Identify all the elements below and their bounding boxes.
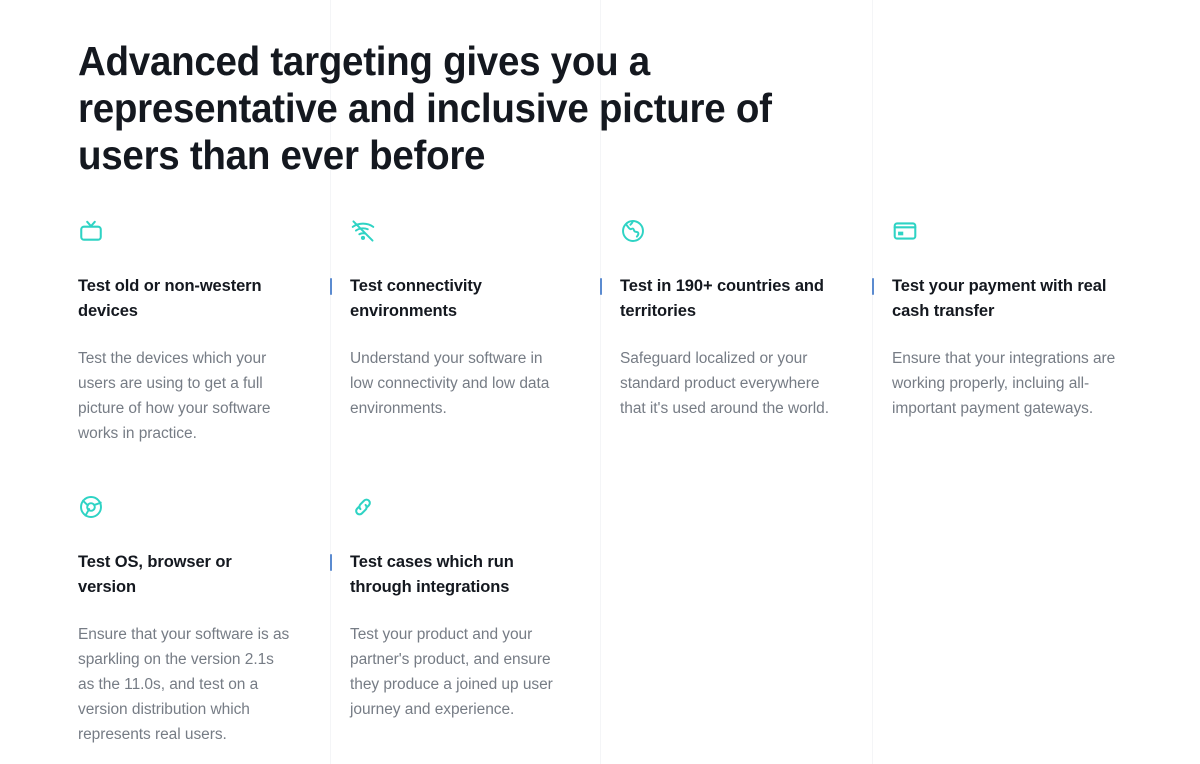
page-title: Advanced targeting gives you a represent…: [78, 38, 830, 179]
card-title: Test cases which run through integration…: [350, 550, 564, 600]
card-body-text: Understand your software in low connecti…: [350, 346, 564, 421]
card-title-text: Test your payment with real cash transfe…: [892, 277, 1106, 320]
feature-card-browser: Test OS, browser or version Ensure that …: [0, 494, 330, 747]
card-title: Test connectivity environments: [350, 274, 564, 324]
card-title-text: Test in 190+ countries and territories: [620, 277, 824, 320]
browser-chrome-icon: [78, 494, 104, 520]
feature-card-payment: Test your payment with real cash transfe…: [872, 218, 1200, 446]
card-title-text: Test cases which run through integration…: [350, 553, 514, 596]
card-title: Test OS, browser or version: [78, 550, 290, 600]
television-icon: [78, 218, 104, 244]
title-accent-bar: [330, 554, 332, 571]
feature-card-devices: Test old or non-western devices Test the…: [0, 218, 330, 446]
card-title-text: Test OS, browser or version: [78, 553, 232, 596]
title-accent-bar: [600, 278, 602, 295]
feature-card-empty-4: [872, 494, 1200, 747]
feature-card-countries: Test in 190+ countries and territories S…: [600, 218, 872, 446]
card-body-text: Ensure that your integrations are workin…: [892, 346, 1140, 421]
feature-grid-page: Advanced targeting gives you a represent…: [0, 0, 1200, 764]
card-body-text: Test the devices which your users are us…: [78, 346, 290, 446]
feature-card-connectivity: Test connectivity environments Understan…: [330, 218, 600, 446]
card-body-text: Safeguard localized or your standard pro…: [620, 346, 842, 421]
card-title: Test in 190+ countries and territories: [620, 274, 842, 324]
feature-card-grid: Test old or non-western devices Test the…: [0, 218, 1200, 747]
feature-card-integrations: Test cases which run through integration…: [330, 494, 600, 747]
link-chain-icon: [350, 494, 376, 520]
card-title-text: Test connectivity environments: [350, 277, 482, 320]
card-body-text: Test your product and your partner's pro…: [350, 622, 564, 722]
wifi-off-icon: [350, 218, 376, 244]
credit-card-icon: [892, 218, 918, 244]
title-accent-bar: [872, 278, 874, 295]
globe-icon: [620, 218, 646, 244]
card-body-text: Ensure that your software is as sparklin…: [78, 622, 290, 747]
title-accent-bar: [330, 278, 332, 295]
card-title: Test old or non-western devices: [78, 274, 290, 324]
feature-card-empty-3: [600, 494, 872, 747]
card-title-text: Test old or non-western devices: [78, 277, 262, 320]
card-title: Test your payment with real cash transfe…: [892, 274, 1140, 324]
